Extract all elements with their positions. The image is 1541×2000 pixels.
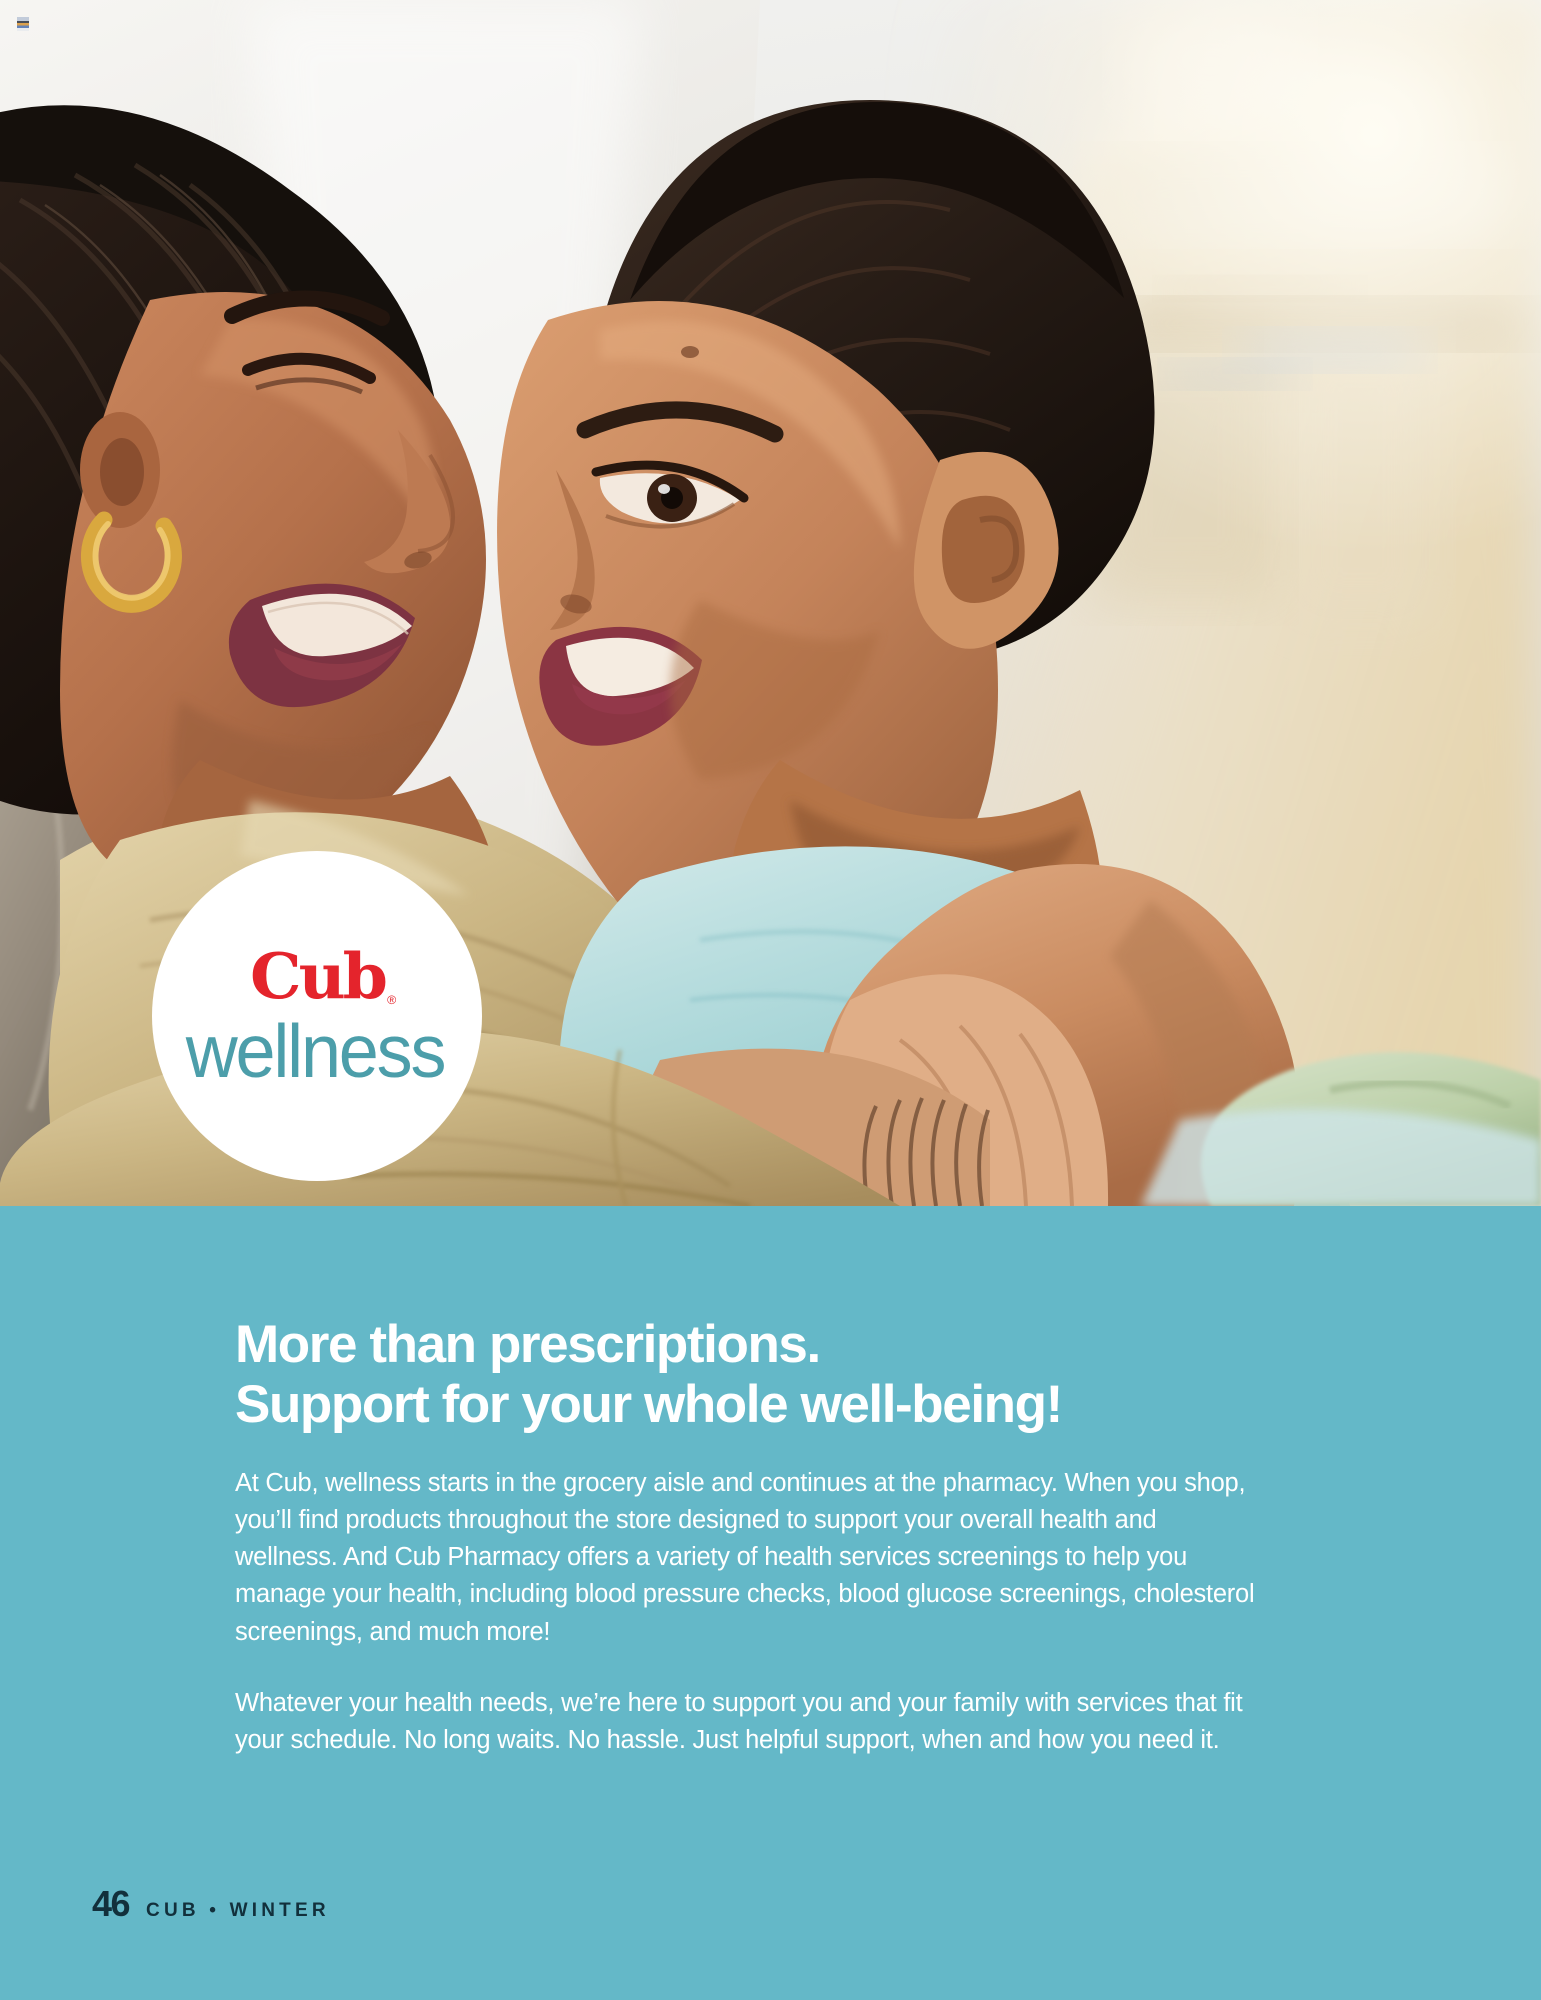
headline-line-1: More than prescriptions. xyxy=(235,1315,1280,1375)
page-footer: 46 CUB • WINTER xyxy=(92,1886,330,1922)
page-number: 46 xyxy=(92,1886,129,1922)
content-block: More than prescriptions. Support for you… xyxy=(235,1315,1280,1759)
catalog-page: Cub® wellness More than prescriptions. S… xyxy=(0,0,1541,2000)
wellness-wordmark: wellness xyxy=(186,1014,445,1089)
headline-line-2: Support for your whole well-being! xyxy=(235,1375,1280,1435)
cub-logo-text: Cub xyxy=(250,939,385,1013)
footer-brand-label: CUB • WINTER xyxy=(146,1901,330,1920)
page-headline: More than prescriptions. Support for you… xyxy=(235,1315,1280,1435)
cub-logo-wordmark: Cub® xyxy=(250,945,385,1008)
scan-artifact xyxy=(17,17,29,31)
registered-trademark-icon: ® xyxy=(387,994,396,1006)
body-paragraph-1: At Cub, wellness starts in the grocery a… xyxy=(235,1465,1265,1651)
cub-wellness-badge: Cub® wellness xyxy=(152,851,482,1181)
body-paragraph-2: Whatever your health needs, we’re here t… xyxy=(235,1685,1265,1759)
